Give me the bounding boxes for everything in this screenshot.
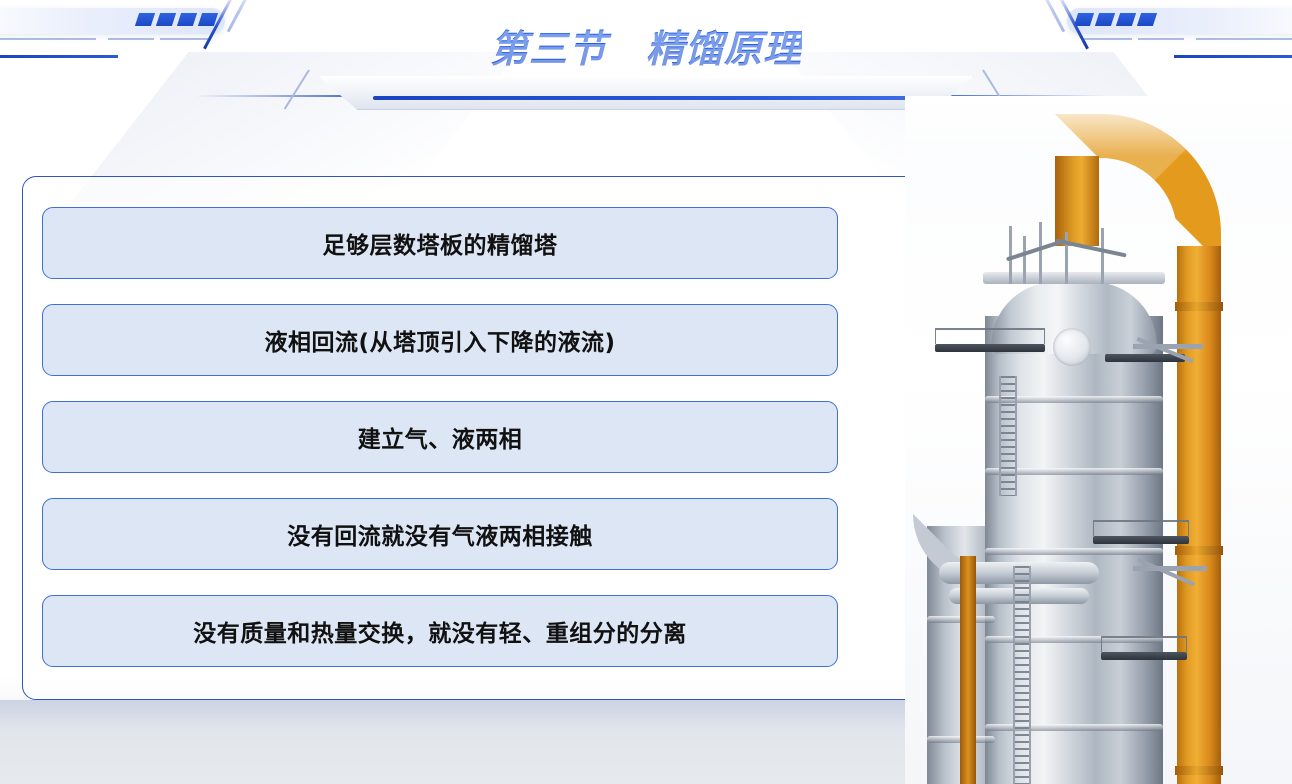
content-box-label: 没有质量和热量交换，就没有轻、重组分的分离 — [193, 614, 687, 648]
orange-pipe-riser — [1177, 246, 1221, 784]
service-platform — [1093, 536, 1189, 544]
content-box[interactable]: 足够层数塔板的精馏塔 — [42, 207, 838, 279]
distillation-column-photo — [905, 96, 1292, 784]
service-platform — [935, 344, 1045, 352]
dash-icon — [1074, 13, 1094, 26]
title-underline-notch — [318, 76, 974, 110]
header-left-slash-icon — [227, 0, 255, 32]
page-title: 第三节 精馏原理 — [490, 18, 802, 73]
content-box-label: 足够层数塔板的精馏塔 — [323, 226, 558, 260]
content-box[interactable]: 没有质量和热量交换，就没有轻、重组分的分离 — [42, 595, 838, 667]
content-box-label: 液相回流(从塔顶引入下降的液流) — [264, 323, 615, 357]
orange-small-pipe — [960, 556, 976, 784]
antenna-icon — [1023, 236, 1026, 284]
photo-top-fade — [905, 96, 1292, 156]
header-right-accent-line — [1174, 55, 1292, 58]
content-box-label: 没有回流就没有气液两相接触 — [287, 517, 593, 551]
header-left-accent-line — [0, 55, 118, 58]
platform-railing — [1093, 520, 1189, 536]
notch-shape — [318, 76, 974, 110]
pipe-support — [1133, 566, 1207, 571]
service-platform — [1101, 652, 1187, 660]
header-left-dash-group — [137, 13, 216, 26]
dash-icon — [177, 13, 197, 26]
notch-accent-line — [373, 96, 928, 100]
content-box[interactable]: 没有回流就没有气液两相接触 — [42, 498, 838, 570]
dash-icon — [1137, 13, 1157, 26]
content-box[interactable]: 液相回流(从塔顶引入下降的液流) — [42, 304, 838, 376]
platform-railing — [1101, 636, 1187, 652]
content-box[interactable]: 建立气、液两相 — [42, 401, 838, 473]
notch-wing-left — [260, 76, 330, 110]
dash-icon — [135, 13, 155, 26]
header-right-slash-icon — [1037, 0, 1065, 32]
content-box-label: 建立气、液两相 — [358, 420, 523, 454]
antenna-icon — [1039, 222, 1042, 284]
content-box-list: 足够层数塔板的精馏塔 液相回流(从塔顶引入下降的液流) 建立气、液两相 没有回流… — [42, 207, 838, 667]
dash-icon — [1116, 13, 1136, 26]
column-girth-ring — [985, 724, 1163, 731]
dash-icon — [1095, 13, 1115, 26]
column-manway — [1053, 328, 1091, 366]
header-right-dash-group — [1076, 13, 1155, 26]
antenna-icon — [1101, 228, 1104, 284]
access-ladder — [1013, 566, 1031, 784]
header-left-hairlines — [0, 38, 210, 48]
orange-pipe-left-leg — [1055, 156, 1099, 246]
dash-icon — [156, 13, 176, 26]
slide-root: 第三节 精馏原理 足够层数塔板的精馏塔 液相回流(从塔顶引入下降的液流) 建立气… — [0, 0, 1292, 784]
platform-railing — [935, 328, 1045, 344]
header-right-hairlines — [1082, 38, 1292, 48]
access-ladder — [999, 376, 1017, 496]
